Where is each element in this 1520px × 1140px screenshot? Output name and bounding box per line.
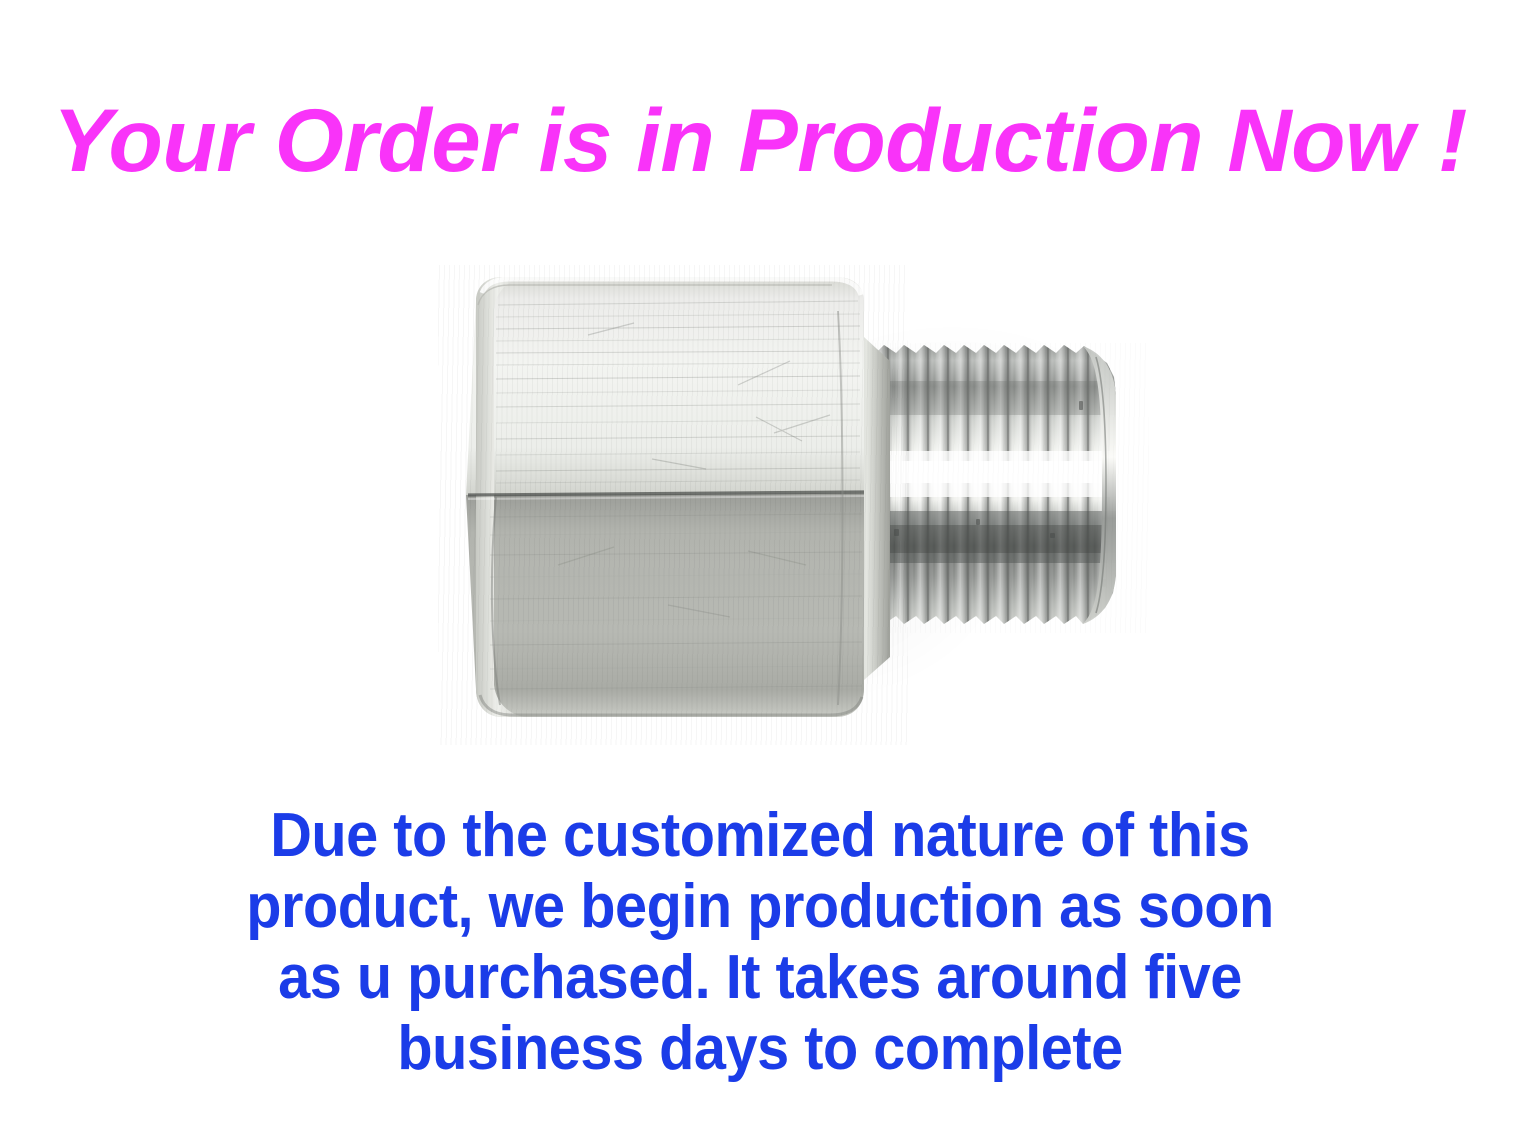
hex-body-svg [438, 265, 908, 745]
notice-line-2: product, we begin production as soon [183, 871, 1336, 942]
production-notice: Due to the customized nature of this pro… [140, 800, 1380, 1084]
promo-image-canvas: Your Order is in Production Now ! [0, 0, 1520, 1140]
page-title: Your Order is in Production Now ! [0, 92, 1520, 188]
product-photo [380, 235, 1200, 775]
notice-line-1: Due to the customized nature of this [183, 800, 1336, 871]
hex-lower-flat [466, 493, 864, 717]
hex-adapter-body [438, 265, 908, 745]
notice-line-4: business days to complete [183, 1013, 1336, 1084]
hex-upper-flat [466, 277, 864, 495]
notice-line-3: as u purchased. It takes around five [183, 942, 1336, 1013]
